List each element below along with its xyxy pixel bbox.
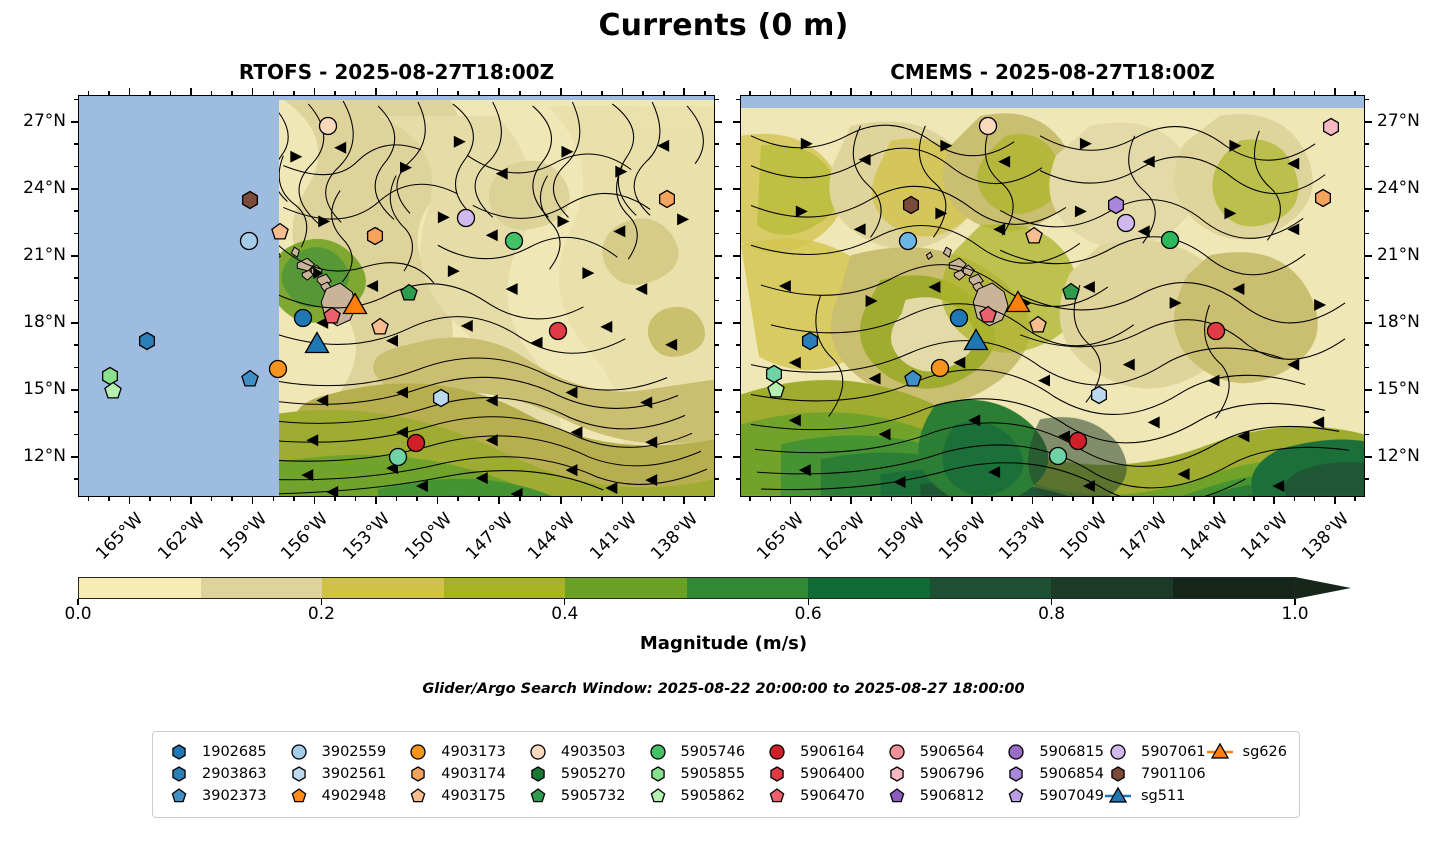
colorbar-band-3 (444, 578, 566, 598)
cmems-xtick-9 (1334, 497, 1336, 504)
cmems-ytick-5 (1365, 456, 1372, 458)
legend-label-2903863: 2903863 (202, 766, 267, 782)
cmems-ytick-minor (736, 233, 740, 235)
legend-label-5906470: 5906470 (800, 788, 865, 804)
rtofs-xtick-minor (170, 497, 172, 501)
rtofs-xtick-minor (231, 497, 233, 501)
cmems-field-canvas (741, 96, 1364, 496)
legend-item-3902561[interactable]: 3902561 (285, 763, 405, 785)
colorbar-axis-label: Magnitude (m/s) (0, 633, 1447, 654)
rtofs-ytick-minor (74, 166, 78, 168)
cmems-xtick-minor (1112, 497, 1114, 501)
panel-title-rtofs: RTOFS - 2025-08-27T18:00Z (78, 60, 715, 84)
cmems-ytick-minor (736, 99, 740, 101)
cmems-xtick-minor-top (1132, 91, 1134, 95)
cmems-xtick-minor (931, 497, 933, 501)
cmems-yticklabel-4: 15°N (1377, 379, 1447, 399)
rtofs-xtick-9 (683, 497, 685, 504)
rtofs-xtick-minor-top (231, 91, 233, 95)
cmems-xtick-minor (1233, 497, 1235, 501)
cmems-xtick-minor (749, 497, 751, 501)
rtofs-xtick-minor (601, 497, 603, 501)
legend-label-5906815: 5906815 (1039, 744, 1104, 760)
rtofs-ytick-1 (71, 188, 78, 190)
legend-marker-5905862-icon (644, 786, 672, 806)
rtofs-yticklabel-5: 12°N (0, 446, 66, 466)
cmems-xtick-minor-top (1314, 91, 1316, 95)
rtofs-ytick-minor-opp (715, 277, 719, 279)
cmems-ytick-1 (1365, 188, 1372, 190)
legend-glyph-3902373 (172, 789, 185, 802)
rtofs-ytick-minor-opp (715, 300, 719, 302)
cmems-ytick-minor (736, 344, 740, 346)
colorbar-ticklabel-4: 0.8 (1022, 604, 1082, 624)
cmems-xtick-minor-top (1173, 91, 1175, 95)
cmems-xtick-top-3 (971, 88, 973, 95)
rtofs-xtick-top-1 (190, 88, 192, 95)
rtofs-xtick-7 (560, 497, 562, 504)
rtofs-xtick-top-5 (437, 88, 439, 95)
legend-glyph-5907049 (1010, 789, 1023, 802)
rtofs-xtick-minor-top (355, 91, 357, 95)
rtofs-ytick-minor-opp (715, 478, 719, 480)
legend-marker-5907049-icon (1002, 786, 1030, 806)
cmems-yticklabel-3: 18°N (1377, 312, 1447, 332)
cmems-ytick-minor-opp (1365, 344, 1369, 346)
rtofs-yticklabel-1: 24°N (0, 178, 66, 198)
cmems-xtick-top-7 (1213, 88, 1215, 95)
cmems-xtick-minor-top (770, 91, 772, 95)
rtofs-xtick-minor (88, 497, 90, 501)
rtofs-xtick-minor-top (88, 91, 90, 95)
legend-label-5907049: 5907049 (1039, 788, 1104, 804)
panel-title-cmems: CMEMS - 2025-08-27T18:00Z (740, 60, 1365, 84)
cmems-xtick-minor (1052, 497, 1054, 501)
rtofs-ytick-opp-5 (715, 456, 722, 458)
map-panel-rtofs[interactable] (78, 95, 715, 497)
legend-glyph-4903173 (411, 745, 425, 759)
legend-marker-5906812-icon (883, 786, 911, 806)
rtofs-xtick-minor-top (170, 91, 172, 95)
cmems-xtick-minor-top (1253, 91, 1255, 95)
rtofs-ytick-minor-opp (715, 367, 719, 369)
rtofs-xtick-0 (129, 497, 131, 504)
legend-label-5906812: 5906812 (920, 788, 985, 804)
rtofs-yticklabel-4: 15°N (0, 379, 66, 399)
cmems-xtick-top-6 (1153, 88, 1155, 95)
legend-item-4903174[interactable]: 4903174 (404, 763, 524, 785)
legend-label-5905855: 5905855 (681, 766, 746, 782)
search-window-caption: Glider/Argo Search Window: 2025-08-22 20… (0, 681, 1447, 697)
rtofs-xtick-minor (704, 497, 706, 501)
rtofs-yticklabel-3: 18°N (0, 312, 66, 332)
cmems-ytick-minor-opp (1365, 166, 1369, 168)
legend-marker-3902373-icon (165, 786, 193, 806)
cmems-ytick-opp-4 (733, 389, 740, 391)
rtofs-xtick-minor (581, 497, 583, 501)
cmems-xtick-minor-top (931, 91, 933, 95)
legend-glyph-2903863 (173, 767, 185, 781)
cmems-xtick-minor-top (951, 91, 953, 95)
rtofs-ytick-opp-4 (715, 389, 722, 391)
legend-glyph-5906400 (771, 767, 783, 781)
rtofs-xtick-minor-top (519, 91, 521, 95)
legend-item-5906564[interactable]: 5906564 (883, 741, 1003, 763)
legend-item-sg626[interactable]: sg626 (1206, 741, 1287, 763)
rtofs-ytick-minor (74, 210, 78, 212)
legend-marker-3902559-icon (285, 742, 313, 762)
rtofs-ytick-minor (74, 367, 78, 369)
rtofs-xtick-minor-top (581, 91, 583, 95)
legend-glyph-5906812 (890, 789, 903, 802)
legend-item-2903863[interactable]: 2903863 (165, 763, 285, 785)
legend-marker-4902948-icon (285, 786, 313, 806)
rtofs-xtick-minor (273, 497, 275, 501)
cmems-xtick-minor-top (1233, 91, 1235, 95)
cmems-ytick-4 (1365, 389, 1372, 391)
rtofs-xtick-top-2 (252, 88, 254, 95)
rtofs-xtick-top-7 (560, 88, 562, 95)
cmems-xtick-minor-top (991, 91, 993, 95)
cmems-ytick-opp-0 (733, 121, 740, 123)
rtofs-xtick-minor-top (108, 91, 110, 95)
legend-marker-2903863-icon (165, 764, 193, 784)
cmems-yticklabel-2: 21°N (1377, 245, 1447, 265)
legend-item-5906812[interactable]: 5906812 (883, 785, 1003, 807)
rtofs-ytick-minor-opp (715, 344, 719, 346)
legend-marker-4903503-icon (524, 742, 552, 762)
cmems-yticklabel-5: 12°N (1377, 446, 1447, 466)
legend-glyph-5906564 (890, 745, 904, 759)
legend-item-5906400[interactable]: 5906400 (763, 763, 883, 785)
cmems-xtick-top-2 (911, 88, 913, 95)
legend-marker-5906164-icon (763, 742, 791, 762)
cmems-xtick-top-9 (1334, 88, 1336, 95)
rtofs-yticklabel-0: 27°N (0, 111, 66, 131)
rtofs-xtick-6 (498, 497, 500, 504)
cmems-yticklabel-0: 27°N (1377, 111, 1447, 131)
cmems-ytick-minor-opp (1365, 300, 1369, 302)
legend-glyph-5905270 (532, 767, 544, 781)
legend-marker-1902685-icon (165, 742, 193, 762)
legend-glyph-4903174 (412, 767, 424, 781)
legend-item-5906796[interactable]: 5906796 (883, 763, 1003, 785)
legend-marker-4903175-icon (404, 786, 432, 806)
legend-glyph-5907061 (1111, 745, 1125, 759)
cmems-ytick-opp-1 (733, 188, 740, 190)
rtofs-xtick-minor (211, 497, 213, 501)
cmems-xtick-minor (1294, 497, 1296, 501)
rtofs-ytick-opp-2 (715, 255, 722, 257)
legend-item-4902948[interactable]: 4902948 (285, 785, 405, 807)
legend-item-5905746[interactable]: 5905746 (644, 741, 764, 763)
legend-label-3902561: 3902561 (322, 766, 387, 782)
legend-label-4903175: 4903175 (441, 788, 506, 804)
legend-glyph-4903175 (412, 789, 425, 802)
rtofs-xtick-minor (108, 497, 110, 501)
legend-marker-4903173-icon (404, 742, 432, 762)
cmems-xtick-3 (971, 497, 973, 504)
legend-marker-3902561-icon (285, 764, 313, 784)
legend-label-4902948: 4902948 (322, 788, 387, 804)
legend-marker-5906400-icon (763, 764, 791, 784)
rtofs-xtick-minor-top (663, 91, 665, 95)
legend-glyph-5905746 (651, 745, 665, 759)
cmems-xtick-minor (891, 497, 893, 501)
cmems-ytick-minor (736, 143, 740, 145)
rtofs-xtick-5 (437, 497, 439, 504)
rtofs-ytick-minor (74, 277, 78, 279)
legend-label-5905732: 5905732 (561, 788, 626, 804)
legend-item-4903175[interactable]: 4903175 (404, 785, 524, 807)
cmems-xtick-minor-top (1011, 91, 1013, 95)
legend-label-5907061: 5907061 (1141, 744, 1206, 760)
cmems-xtick-minor (1011, 497, 1013, 501)
legend-label-3902373: 3902373 (202, 788, 267, 804)
cmems-ytick-minor-opp (1365, 434, 1369, 436)
legend-label-5906796: 5906796 (920, 766, 985, 782)
cmems-xtick-top-4 (1032, 88, 1034, 95)
cmems-xtick-minor (830, 497, 832, 501)
rtofs-xtick-minor (540, 497, 542, 501)
rtofs-ytick-minor (74, 478, 78, 480)
rtofs-xtick-minor-top (211, 91, 213, 95)
legend-marker-7901106-icon (1104, 764, 1132, 784)
legend-label-5905746: 5905746 (681, 744, 746, 760)
rtofs-yticklabel-2: 21°N (0, 245, 66, 265)
legend-item-5905270[interactable]: 5905270 (524, 763, 644, 785)
cmems-ytick-opp-5 (733, 456, 740, 458)
cmems-xtick-minor-top (810, 91, 812, 95)
cmems-ytick-minor-opp (1365, 210, 1369, 212)
legend-marker-5905732-icon (524, 786, 552, 806)
legend-glyph-7901106 (1112, 767, 1124, 781)
rtofs-xtick-minor-top (704, 91, 706, 95)
cmems-ytick-minor (736, 300, 740, 302)
colorbar-ticklabel-0: 0.0 (48, 604, 108, 624)
legend-marker-5906796-icon (883, 764, 911, 784)
legend-item-5905862[interactable]: 5905862 (644, 785, 764, 807)
rtofs-ytick-minor-opp (715, 99, 719, 101)
cmems-xtick-minor (1072, 497, 1074, 501)
rtofs-ytick-minor-opp (715, 233, 719, 235)
colorbar-ticklabel-1: 0.2 (291, 604, 351, 624)
rtofs-xtick-minor (478, 497, 480, 501)
cmems-ytick-minor (736, 434, 740, 436)
cmems-xtick-7 (1213, 497, 1215, 504)
legend-item-3902559[interactable]: 3902559 (285, 741, 405, 763)
cmems-xtick-minor-top (1294, 91, 1296, 95)
legend-item-5906470[interactable]: 5906470 (763, 785, 883, 807)
cmems-ytick-minor-opp (1365, 233, 1369, 235)
platform-legend[interactable]: 1902685290386339023733902559390256149029… (152, 731, 1300, 818)
cmems-xtick-minor (1193, 497, 1195, 501)
legend-glyph-5905862 (651, 789, 664, 802)
rtofs-xtick-minor-top (540, 91, 542, 95)
cmems-xtick-0 (790, 497, 792, 504)
cmems-xtick-minor (1253, 497, 1255, 501)
legend-marker-5905270-icon (524, 764, 552, 784)
legend-item-4903503[interactable]: 4903503 (524, 741, 644, 763)
legend-label-5906400: 5906400 (800, 766, 865, 782)
rtofs-xtick-minor (355, 497, 357, 501)
legend-glyph-3902559 (292, 745, 306, 759)
rtofs-xtick-top-6 (498, 88, 500, 95)
legend-glyph-5905855 (651, 767, 663, 781)
legend-item-5906164[interactable]: 5906164 (763, 741, 883, 763)
rtofs-ytick-4 (71, 389, 78, 391)
colorbar-band-2 (322, 578, 444, 598)
cmems-nodata-top-strip (741, 96, 1365, 108)
cmems-ytick-2 (1365, 255, 1372, 257)
legend-label-sg511: sg511 (1141, 788, 1185, 804)
cmems-xtick-minor (770, 497, 772, 501)
cmems-xtick-minor-top (1193, 91, 1195, 95)
legend-item-5906854[interactable]: 5906854 (1002, 763, 1104, 785)
legend-marker-sg626-icon (1206, 742, 1234, 762)
legend-label-1902685: 1902685 (202, 744, 267, 760)
rtofs-ytick-minor (74, 434, 78, 436)
cmems-xtick-top-5 (1092, 88, 1094, 95)
cmems-xtick-minor-top (891, 91, 893, 95)
rtofs-ytick-0 (71, 121, 78, 123)
legend-item-5907049[interactable]: 5907049 (1002, 785, 1104, 807)
rtofs-ytick-5 (71, 456, 78, 458)
legend-label-sg626: sg626 (1243, 744, 1287, 760)
cmems-xtick-minor (1314, 497, 1316, 501)
colorbar-ticklabel-3: 0.6 (778, 604, 838, 624)
cmems-ytick-minor (736, 210, 740, 212)
rtofs-xtick-3 (314, 497, 316, 504)
rtofs-xtick-minor (396, 497, 398, 501)
rtofs-ytick-minor (74, 344, 78, 346)
legend-glyph-5906815 (1009, 745, 1023, 759)
rtofs-xtick-minor-top (601, 91, 603, 95)
cmems-xtick-minor-top (1052, 91, 1054, 95)
cmems-ytick-opp-3 (733, 322, 740, 324)
legend-item-4903173[interactable]: 4903173 (404, 741, 524, 763)
rtofs-xtick-top-3 (314, 88, 316, 95)
cmems-ytick-minor (736, 166, 740, 168)
colorbar-ticklabel-2: 0.4 (535, 604, 595, 624)
legend-item-5905732[interactable]: 5905732 (524, 785, 644, 807)
rtofs-ytick-opp-0 (715, 121, 722, 123)
legend-item-1902685[interactable]: 1902685 (165, 741, 285, 763)
legend-label-5906854: 5906854 (1039, 766, 1104, 782)
rtofs-ytick-minor-opp (715, 210, 719, 212)
cmems-ytick-minor (736, 367, 740, 369)
legend-item-3902373[interactable]: 3902373 (165, 785, 285, 807)
legend-glyph-4902948 (292, 789, 305, 802)
legend-label-4903503: 4903503 (561, 744, 626, 760)
cmems-xtick-1 (850, 497, 852, 504)
legend-marker-5906854-icon (1002, 764, 1030, 784)
rtofs-xtick-minor (519, 497, 521, 501)
cmems-xtick-minor (951, 497, 953, 501)
legend-glyph-4903503 (531, 745, 545, 759)
cmems-ytick-3 (1365, 322, 1372, 324)
legend-glyph-3902561 (293, 767, 305, 781)
cmems-ytick-minor (736, 277, 740, 279)
legend-marker-5907061-icon (1104, 742, 1132, 762)
cmems-yticklabel-1: 24°N (1377, 178, 1447, 198)
rtofs-xtick-4 (375, 497, 377, 504)
rtofs-xtick-minor (416, 497, 418, 501)
legend-marker-5906564-icon (883, 742, 911, 762)
legend-marker-sg511-icon (1104, 786, 1132, 806)
rtofs-ytick-minor (74, 99, 78, 101)
cmems-xtick-minor (1132, 497, 1134, 501)
rtofs-ytick-minor-opp (715, 143, 719, 145)
legend-grid: 1902685290386339023733902559390256149029… (165, 741, 1287, 807)
cmems-xtick-minor-top (1112, 91, 1114, 95)
rtofs-ytick-2 (71, 255, 78, 257)
rtofs-xtick-minor-top (273, 91, 275, 95)
rtofs-xtick-minor-top (478, 91, 480, 95)
legend-label-5906164: 5906164 (800, 744, 865, 760)
cmems-xtick-top-0 (790, 88, 792, 95)
cmems-xtick-minor-top (1072, 91, 1074, 95)
rtofs-xtick-minor-top (396, 91, 398, 95)
map-panel-cmems[interactable] (740, 95, 1365, 497)
legend-item-7901106[interactable]: 7901106 (1104, 763, 1206, 785)
rtofs-ytick-minor (74, 300, 78, 302)
rtofs-ytick-minor (74, 411, 78, 413)
rtofs-xtick-minor (457, 497, 459, 501)
cmems-xtick-4 (1032, 497, 1034, 504)
colorbar-ticklabel-5: 1.0 (1265, 604, 1325, 624)
cmems-ytick-minor (736, 411, 740, 413)
legend-item-sg511[interactable]: sg511 (1104, 785, 1206, 807)
legend-item-5906815[interactable]: 5906815 (1002, 741, 1104, 763)
legend-label-7901106: 7901106 (1141, 766, 1206, 782)
legend-item-5907061[interactable]: 5907061 (1104, 741, 1206, 763)
cmems-xtick-minor (1173, 497, 1175, 501)
legend-item-5905855[interactable]: 5905855 (644, 763, 764, 785)
rtofs-nodata-top-strip (279, 96, 715, 100)
cmems-ytick-minor-opp (1365, 277, 1369, 279)
rtofs-ytick-minor (74, 143, 78, 145)
rtofs-xtick-top-9 (683, 88, 685, 95)
rtofs-ytick-minor (74, 233, 78, 235)
legend-label-5905862: 5905862 (681, 788, 746, 804)
rtofs-xtick-minor (642, 497, 644, 501)
rtofs-xtick-minor-top (457, 91, 459, 95)
cmems-xtick-minor (870, 497, 872, 501)
cmems-xtick-minor (810, 497, 812, 501)
cmems-xtick-minor (991, 497, 993, 501)
rtofs-xtick-1 (190, 497, 192, 504)
legend-glyph-5906796 (891, 767, 903, 781)
rtofs-ytick-3 (71, 322, 78, 324)
colorbar-extend-arrow (1295, 577, 1351, 599)
rtofs-xtick-minor-top (149, 91, 151, 95)
legend-marker-5906470-icon (763, 786, 791, 806)
cmems-ytick-minor-opp (1365, 143, 1369, 145)
legend-marker-4903174-icon (404, 764, 432, 784)
legend-label-4903174: 4903174 (441, 766, 506, 782)
cmems-xtick-5 (1092, 497, 1094, 504)
rtofs-xtick-top-0 (129, 88, 131, 95)
rtofs-xtick-minor-top (642, 91, 644, 95)
legend-glyph-5905732 (531, 789, 544, 802)
legend-label-5906564: 5906564 (920, 744, 985, 760)
figure-title: Currents (0 m) (0, 8, 1447, 43)
legend-glyph-1902685 (173, 745, 185, 759)
rtofs-xtick-minor (149, 497, 151, 501)
cmems-xtick-minor-top (830, 91, 832, 95)
legend-marker-5906815-icon (1002, 742, 1030, 762)
